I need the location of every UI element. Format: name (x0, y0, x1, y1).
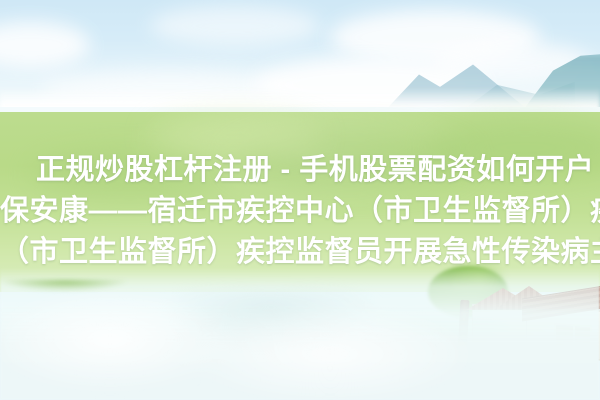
headline-line-3: （市卫生监督所）疾控监督员开展急性传染病主动监测 (0, 232, 600, 273)
banner-image: 正规炒股杠杆注册 - 手机股票配资如何开户 精 保安康——宿迁市疾控中心（市卫生… (0, 0, 600, 400)
headline-line-2: 保安康——宿迁市疾控中心（市卫生监督所）疾控监督 (0, 191, 600, 232)
headline-line-1: 正规炒股杠杆注册 - 手机股票配资如何开户 精 (36, 150, 600, 191)
field-shading (150, 118, 320, 152)
cloud-icon (150, 6, 320, 46)
headline-text: 正规炒股杠杆注册 - 手机股票配资如何开户 精 保安康——宿迁市疾控中心（市卫生… (0, 150, 600, 273)
grass-fringe (0, 280, 140, 314)
